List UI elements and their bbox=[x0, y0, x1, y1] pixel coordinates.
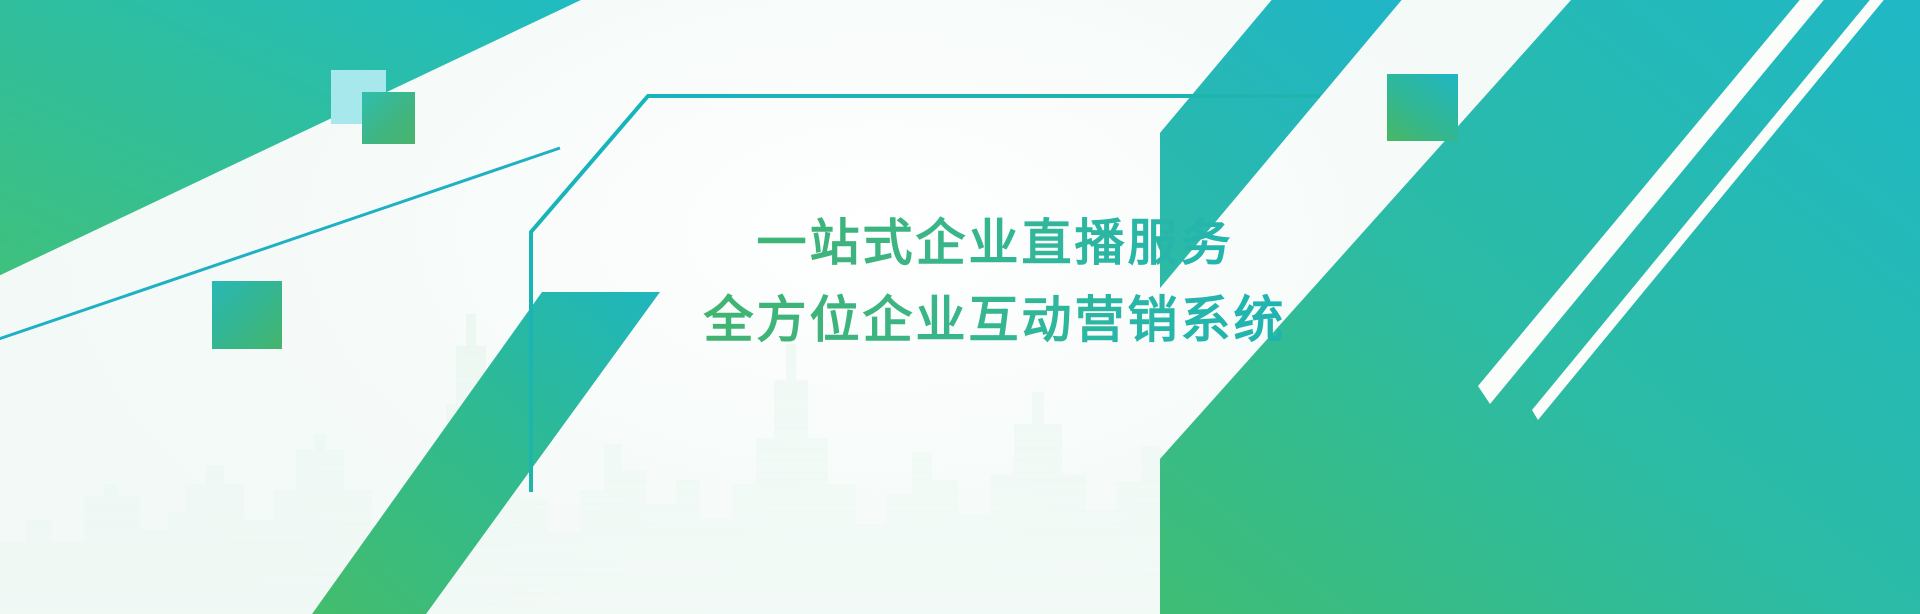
gradient-square-left bbox=[212, 281, 282, 349]
headline-line-1: 一站式企业直播服务 bbox=[645, 210, 1345, 277]
gradient-square-right bbox=[1387, 74, 1458, 141]
promo-banner: 一站式企业直播服务 全方位企业互动营销系统 bbox=[0, 0, 1920, 614]
gradient-square-top bbox=[362, 92, 415, 144]
headline-line-2: 全方位企业互动营销系统 bbox=[645, 287, 1345, 354]
headline-block: 一站式企业直播服务 全方位企业互动营销系统 bbox=[645, 210, 1345, 354]
